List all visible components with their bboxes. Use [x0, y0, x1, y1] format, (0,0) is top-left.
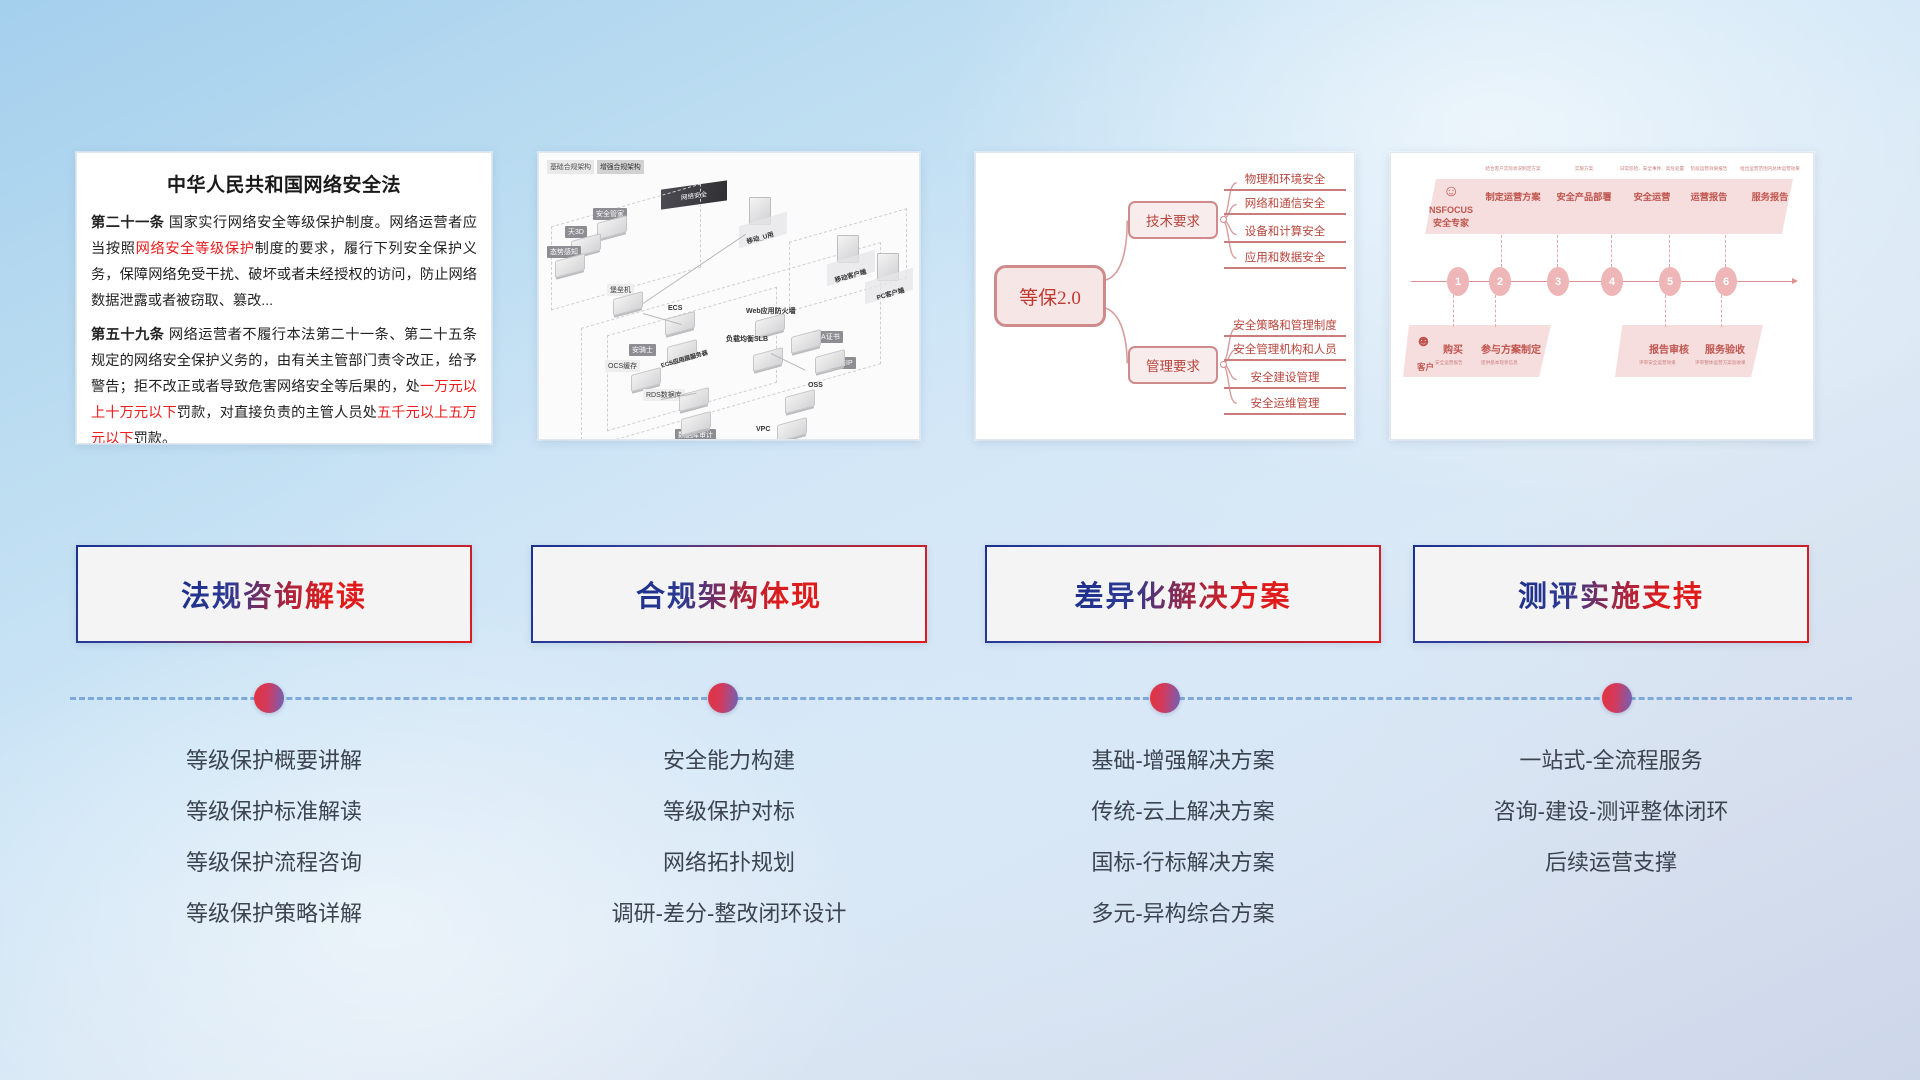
- node-label: OSS: [805, 381, 826, 390]
- node-situational-awareness: 态势感知: [555, 257, 585, 274]
- list-item[interactable]: 国标-行标解决方案: [985, 837, 1381, 888]
- node-label: 天3D: [565, 226, 587, 238]
- step-leader-line: [1501, 235, 1502, 267]
- node-label: ECS: [665, 304, 685, 313]
- mindmap-leaf: 网络和通信安全: [1224, 195, 1346, 215]
- section-title-box-1[interactable]: 法规咨询解读: [76, 545, 472, 643]
- mindmap-leaf: 应用和数据安全: [1224, 249, 1346, 269]
- section-items-4: 一站式-全流程服务 咨询-建设-测评整体闭环 后续运营支撑: [1413, 735, 1809, 888]
- step-number-2[interactable]: 2: [1489, 267, 1511, 296]
- branch-connector-dot: [1220, 216, 1227, 223]
- step-leader-line: [1453, 295, 1454, 327]
- section-title-row: 法规咨询解读 合规架构体现 差异化解决方案 测评实施支持: [0, 545, 1920, 643]
- node-slb: 负载均衡SLB: [753, 351, 783, 368]
- step-leader-line: [1495, 295, 1496, 327]
- list-item[interactable]: 等级保护概要讲解: [76, 735, 472, 786]
- bottom-step-sub: 提供基本现状信息: [1481, 360, 1518, 366]
- node-label: Web应用防火墙: [743, 305, 799, 317]
- node-database-audit: 数据库审计: [681, 415, 711, 432]
- node-mobile-user: 移动_U用: [749, 197, 771, 225]
- node-ocs-cache: OCS缓存: [631, 371, 661, 388]
- architecture-tabs: 基础合规架构 增强合规架构: [547, 160, 644, 174]
- node-waf: Web应用防火墙: [755, 317, 785, 334]
- top-step-title[interactable]: 服务报告: [1731, 189, 1809, 203]
- list-item[interactable]: 等级保护标准解读: [76, 786, 472, 837]
- tab-basic-architecture[interactable]: 基础合规架构: [547, 160, 594, 174]
- step-leader-line: [1665, 295, 1666, 327]
- law-document-card[interactable]: 中华人民共和国网络安全法 第二十一条 国家实行网络安全等级保护制度。网络运营者应…: [76, 152, 492, 444]
- article-59-label: 第五十九条: [91, 327, 164, 343]
- list-item[interactable]: 多元-异构综合方案: [985, 888, 1381, 939]
- section-title-text: 测评实施支持: [1518, 573, 1704, 615]
- mindmap-leaf: 安全建设管理: [1224, 369, 1346, 389]
- customer-label: 客户: [1417, 361, 1434, 373]
- vendor-band: [1425, 179, 1793, 234]
- timeline-dashed-line: [70, 697, 1852, 701]
- mindmap-leaf: 安全运维管理: [1224, 395, 1346, 415]
- step-leader-line: [1557, 235, 1558, 267]
- list-item[interactable]: 一站式-全流程服务: [1413, 735, 1809, 786]
- mindmap-canvas: 等保2.0 技术要求 物理和环境安全 网络和通信安全 设备和计算安全 应用和数据…: [976, 153, 1354, 439]
- mindmap-leaf: 设备和计算安全: [1224, 223, 1346, 243]
- node-pc-client: PC客户端: [877, 253, 899, 281]
- mindmap-root-node[interactable]: 等保2.0: [994, 265, 1106, 327]
- top-step-sub: 实施方案: [1549, 166, 1619, 172]
- branch-connector-dot: [1220, 361, 1227, 368]
- step-leader-line: [1721, 295, 1722, 327]
- bottom-step-title[interactable]: 参与方案制定: [1481, 341, 1541, 356]
- section-title-box-4[interactable]: 测评实施支持: [1413, 545, 1809, 643]
- bottom-step-title[interactable]: 服务验收: [1705, 341, 1745, 356]
- device-icon: [785, 389, 815, 414]
- architecture-diagram-card[interactable]: 基础合规架构 增强合规架构 网络安全 安全管家 天3D 态势感知: [538, 152, 920, 440]
- law-title: 中华人民共和国网络安全法: [77, 170, 491, 197]
- mindmap-leaf: 安全策略和管理制度: [1224, 317, 1346, 337]
- node-mobile-client: 移动客户端: [837, 235, 859, 263]
- node-ca-certificate: CA证书: [791, 333, 821, 350]
- section-title-box-2[interactable]: 合规架构体现: [531, 545, 927, 643]
- top-step-sub: 结合客户实际状况制定方案: [1475, 166, 1551, 172]
- node-oss: OSS: [785, 393, 815, 410]
- service-roadmap-card[interactable]: ☺ NSFOCUS 安全专家 结合客户实际状况制定方案 制定运营方案 实施方案 …: [1390, 152, 1814, 440]
- vendor-label-line2: 安全专家: [1433, 216, 1469, 229]
- mindmap-leaf: 安全管理机构和人员: [1224, 341, 1346, 361]
- architecture-canvas: 基础合规架构 增强合规架构 网络安全 安全管家 天3D 态势感知: [539, 153, 919, 439]
- vendor-label-line1: NSFOCUS: [1429, 205, 1473, 215]
- node-security-butler: 安全管家: [597, 219, 627, 236]
- reference-card-row: 中华人民共和国网络安全法 第二十一条 国家实行网络安全等级保护制度。网络运营者应…: [0, 152, 1920, 452]
- timeline-dot-3[interactable]: [1150, 683, 1180, 713]
- node-bastion-host: 堡垒机: [613, 295, 643, 312]
- step-number-5[interactable]: 5: [1659, 267, 1681, 296]
- law-article-21: 第二十一条 国家实行网络安全等级保护制度。网络运营者应当按照网络安全等级保护制度…: [91, 210, 477, 314]
- roadmap-canvas: ☺ NSFOCUS 安全专家 结合客户实际状况制定方案 制定运营方案 实施方案 …: [1391, 153, 1813, 439]
- list-item[interactable]: 后续运营支撑: [1413, 837, 1809, 888]
- section-items-1: 等级保护概要讲解 等级保护标准解读 等级保护流程咨询 等级保护策略详解: [76, 735, 472, 939]
- list-item[interactable]: 基础-增强解决方案: [985, 735, 1381, 786]
- customer-person-icon: ☻: [1415, 333, 1432, 351]
- node-label: OCS缓存: [605, 360, 640, 372]
- bottom-step-title[interactable]: 报告审核: [1649, 341, 1689, 356]
- section-title-box-3[interactable]: 差异化解决方案: [985, 545, 1381, 643]
- list-item[interactable]: 调研-差分-整改闭环设计: [531, 888, 927, 939]
- top-step-sub: 给出运营范围内总体运营效果: [1731, 166, 1809, 172]
- section-title-text: 合规架构体现: [636, 573, 822, 615]
- step-leader-line: [1611, 235, 1612, 267]
- timeline-dot-4[interactable]: [1602, 683, 1632, 713]
- node-label: VPC: [753, 425, 773, 434]
- step-leader-line: [1669, 235, 1670, 267]
- node-anti-ddos-ip: 高防IP: [815, 353, 845, 370]
- mindmap-leaf: 物理和环境安全: [1224, 171, 1346, 191]
- node-label: 安骑士: [629, 344, 656, 356]
- list-item[interactable]: 网络拓扑规划: [531, 837, 927, 888]
- section-title-text: 差异化解决方案: [1074, 573, 1291, 615]
- mindmap-branch-management[interactable]: 管理要求: [1128, 346, 1218, 384]
- step-number-1[interactable]: 1: [1447, 267, 1469, 296]
- top-step-title[interactable]: 制定运营方案: [1475, 189, 1551, 203]
- mindmap-branch-technical[interactable]: 技术要求: [1128, 201, 1218, 239]
- step-number-4[interactable]: 4: [1601, 267, 1623, 296]
- list-item[interactable]: 等级保护对标: [531, 786, 927, 837]
- section-items-row: 等级保护概要讲解 等级保护标准解读 等级保护流程咨询 等级保护策略详解 安全能力…: [0, 735, 1920, 1025]
- timeline-dot-2[interactable]: [708, 683, 738, 713]
- node-label: 负载均衡SLB: [723, 333, 771, 345]
- step-number-3[interactable]: 3: [1547, 267, 1569, 296]
- tab-enhanced-architecture[interactable]: 增强合规架构: [597, 160, 644, 174]
- mindmap-card[interactable]: 等保2.0 技术要求 物理和环境安全 网络和通信安全 设备和计算安全 应用和数据…: [975, 152, 1355, 440]
- bottom-step-sub: 评审安全运营效果: [1639, 360, 1676, 366]
- step-leader-line: [1725, 235, 1726, 267]
- step-number-6[interactable]: 6: [1715, 267, 1737, 296]
- list-item[interactable]: 安全能力构建: [531, 735, 927, 786]
- bottom-step-title[interactable]: 购买: [1443, 341, 1463, 356]
- list-item[interactable]: 等级保护策略详解: [76, 888, 472, 939]
- node-vpc: VPC: [777, 421, 807, 438]
- section-items-3: 基础-增强解决方案 传统-云上解决方案 国标-行标解决方案 多元-异构综合方案: [985, 735, 1381, 939]
- bottom-step-sub: 安全运营报告: [1435, 360, 1463, 366]
- timeline-dot-1[interactable]: [254, 683, 284, 713]
- article-59-mid: 罚款，对直接负责的主管人员处: [177, 405, 377, 421]
- top-step-title[interactable]: 安全产品部署: [1549, 189, 1619, 203]
- law-body: 第二十一条 国家实行网络安全等级保护制度。网络运营者应当按照网络安全等级保护制度…: [77, 210, 491, 444]
- list-item[interactable]: 传统-云上解决方案: [985, 786, 1381, 837]
- article-21-highlight: 网络安全等级保护: [136, 241, 255, 257]
- section-title-text: 法规咨询解读: [181, 573, 367, 615]
- list-item[interactable]: 咨询-建设-测评整体闭环: [1413, 786, 1809, 837]
- article-59-post: 罚款。: [134, 431, 177, 444]
- section-items-2: 安全能力构建 等级保护对标 网络拓扑规划 调研-差分-整改闭环设计: [531, 735, 927, 939]
- device-icon: [777, 417, 807, 440]
- article-21-label: 第二十一条: [91, 215, 164, 231]
- law-article-59: 第五十九条 网络运营者不履行本法第二十一条、第二十五条规定的网络安全保护义务的，…: [91, 322, 477, 444]
- list-item[interactable]: 等级保护流程咨询: [76, 837, 472, 888]
- bottom-step-sub: 评审整体运营方案验收果: [1695, 360, 1746, 366]
- expert-person-icon: ☺: [1443, 183, 1459, 201]
